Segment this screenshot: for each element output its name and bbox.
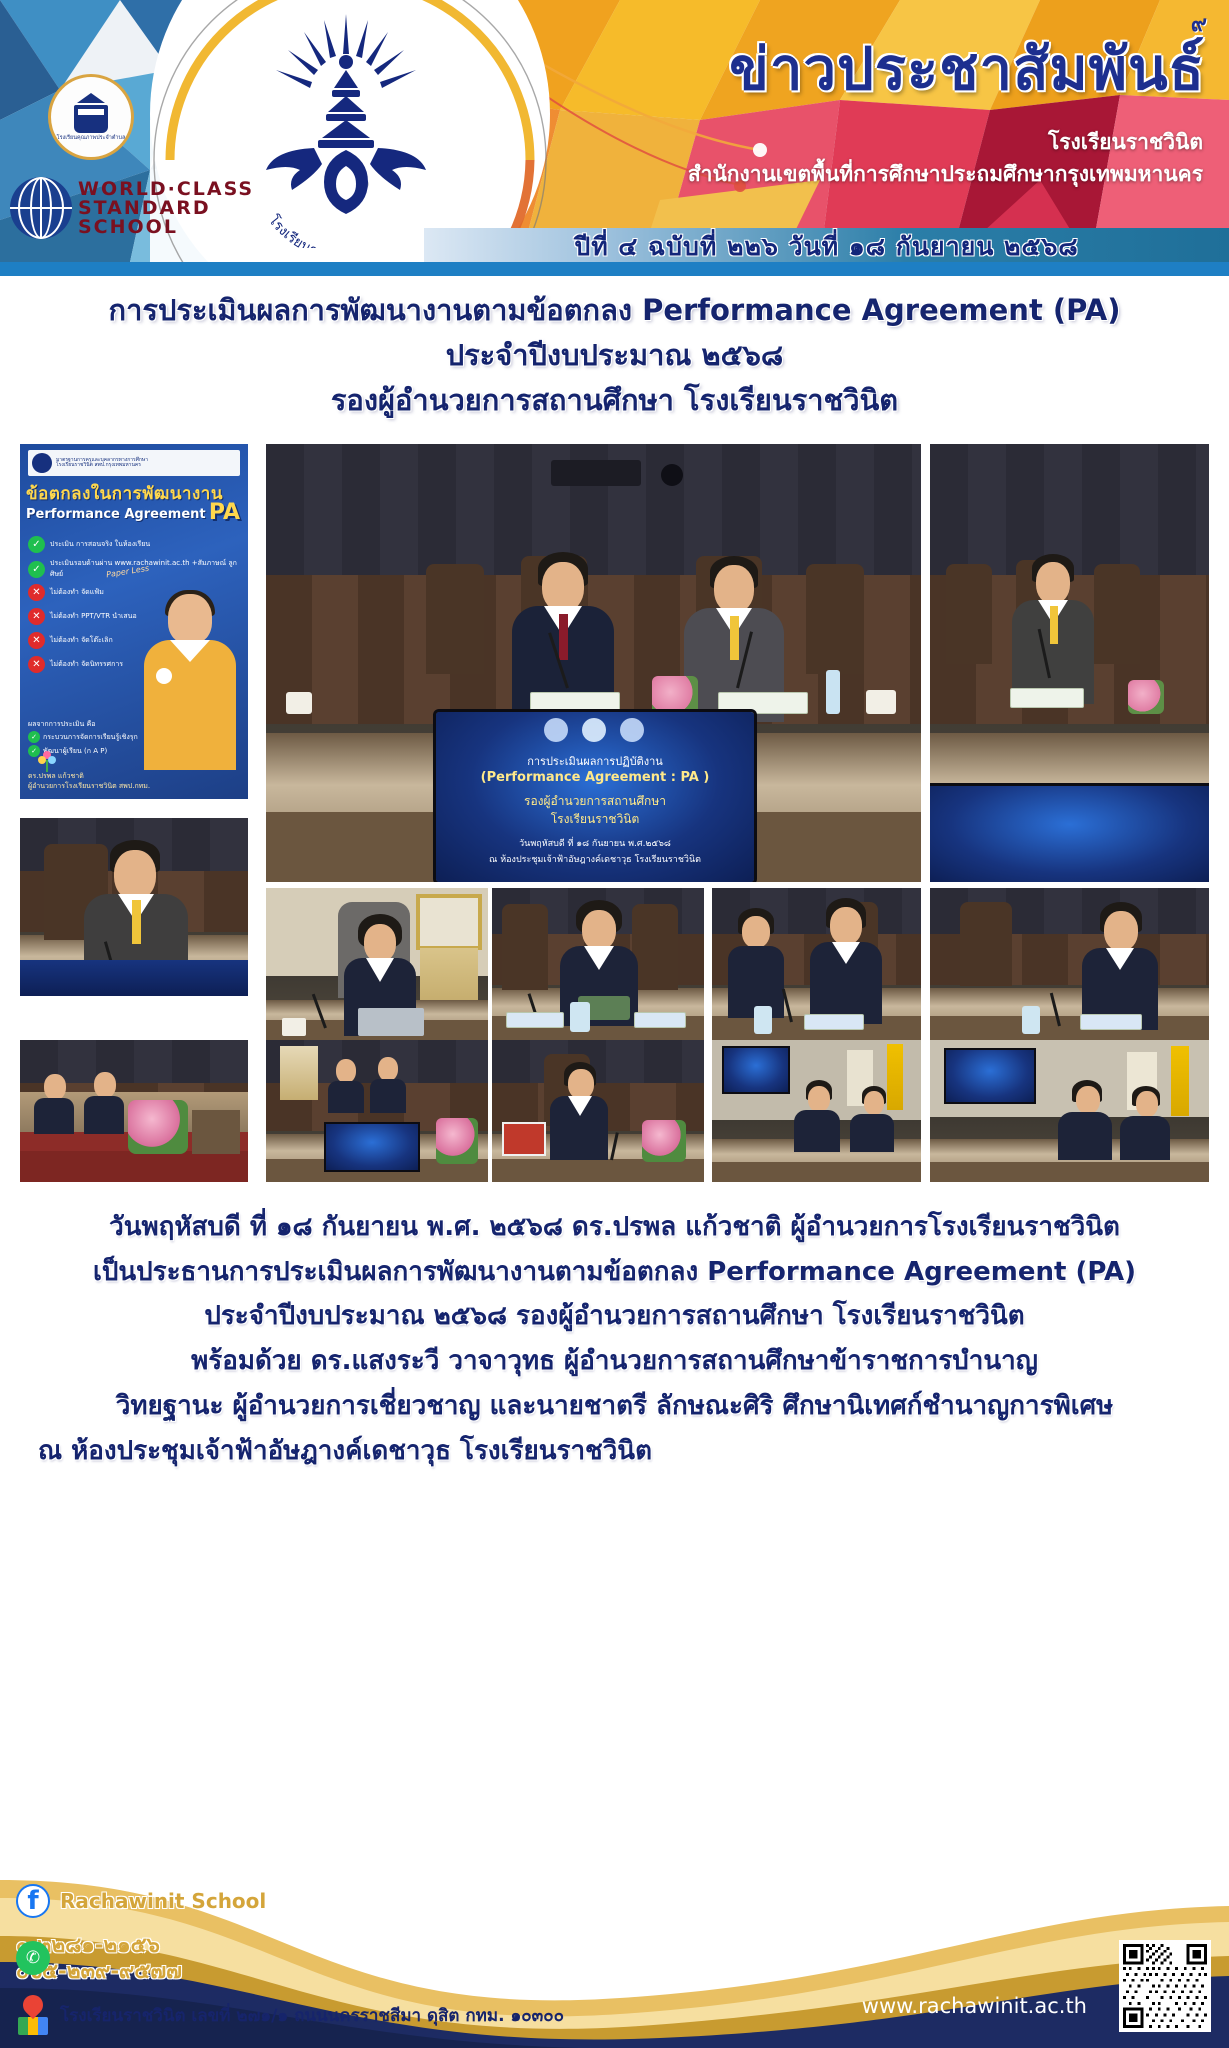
check-icon: ✓: [28, 731, 40, 743]
body-line-3: ประจำปีงบประมาณ ๒๕๖๘ รองผู้อำนวยการสถานศ…: [0, 1294, 1229, 1339]
pa-org-line2: โรงเรียนราชวินิต สพป.กรุงเทพมหานคร: [56, 463, 148, 468]
room-wide-photo-2: [266, 1040, 488, 1182]
pa-item-3: ไม่ต้องทำ PPT/VTR นำเสนอ: [50, 611, 137, 622]
facebook-label[interactable]: Rachawinit School: [60, 1889, 266, 1913]
pa-item-2: ไม่ต้องทำ จัดแฟ้ม: [50, 587, 104, 598]
pa-seal-icon: [32, 453, 52, 473]
body-line-2: เป็นประธานการประเมินผลการพัฒนางานตามข้อต…: [0, 1250, 1229, 1295]
room-wide-photo-3: [492, 1040, 704, 1182]
cross-icon: ✕: [28, 584, 45, 601]
header-banner: โรงเรียนราชวินิต โรงเรียนคุณภาพประจำตำบล…: [0, 0, 1229, 262]
body-paragraph: วันพฤหัสบดี ที่ ๑๘ กันยายน พ.ศ. ๒๕๖๘ ดร.…: [0, 1205, 1229, 1473]
room-wide-photo-5: [930, 1040, 1209, 1182]
issue-line: ปีที่ ๔ ฉบับที่ ๒๒๖ วันที่ ๑๘ กันยายน ๒๕…: [574, 227, 1078, 262]
body-line-6: ณ ห้องประชุมเจ้าฟ้าอัษฎางค์เดชาวุธ โรงเร…: [0, 1429, 1229, 1474]
attendee-photo-1: [712, 888, 921, 1040]
nameplate: [718, 692, 808, 714]
pa-mark: PA: [209, 500, 240, 525]
quality-school-badge-icon: โรงเรียนคุณภาพประจำตำบล: [48, 74, 134, 160]
director-closeup-photo: [20, 818, 248, 996]
pa-footer-item-0: กระบวนการจัดการเรียนรู้เชิงรุก: [43, 732, 138, 743]
attendee-photo-2: [930, 888, 1209, 1040]
facebook-icon[interactable]: f: [16, 1884, 50, 1918]
title-line-3: รองผู้อำนวยการสถานศึกษา โรงเรียนราชวินิต: [0, 378, 1229, 423]
newsletter-poster: โรงเรียนราชวินิต โรงเรียนคุณภาพประจำตำบล…: [0, 0, 1229, 2048]
address-label: โรงเรียนราชวินิต เลขที่ ๒๗๑/๑ ถนนนครราชส…: [60, 2002, 564, 2029]
facebook-contact[interactable]: f Rachawinit School: [16, 1884, 266, 1918]
nameplate: [530, 692, 620, 714]
portrait-illustration: [138, 594, 242, 769]
cross-icon: ✕: [28, 608, 45, 625]
slide-line-1: การประเมินผลการปฏิบัติงาน: [436, 752, 754, 770]
news-title: ข่าวประชาสัมพันธ์: [729, 22, 1205, 115]
pa-item-5: ไม่ต้องทำ จัดนิทรรศการ: [50, 659, 123, 670]
world-class-line1: WORLD·CLASS: [78, 180, 254, 199]
pa-infographic-image: มาตรฐานการครูและบุคลากรทางการศึกษา โรงเร…: [20, 444, 248, 799]
slide-line-4: โรงเรียนราชวินิต: [436, 810, 754, 829]
world-class-school-logo: WORLD·CLASS STANDARD SCHOOL: [10, 160, 190, 256]
globe-icon: [10, 177, 72, 239]
world-class-line2: STANDARD SCHOOL: [78, 199, 254, 237]
check-icon: ✓: [28, 536, 45, 553]
header-divider: [0, 262, 1229, 276]
hall-wide-photo: [930, 444, 1209, 882]
pa-item-0: ประเมิน การสอนจริง ในห้องเรียน: [50, 539, 150, 550]
pa-signature-line1: ดร.ปรพล แก้วชาติ: [28, 771, 150, 781]
room-wide-photo-4: [712, 1040, 921, 1182]
body-line-4: พร้อมด้วย ดร.แสงระวี วาจาวุทธ ผู้อำนวยกา…: [0, 1339, 1229, 1384]
presenter-photo-1: [266, 888, 488, 1040]
office-name: สำนักงานเขตพื้นที่การศึกษาประถมศึกษากรุง…: [688, 158, 1203, 191]
phone-icon: ✆: [16, 1941, 50, 1975]
slide-line-2: (Performance Agreement : PA ): [436, 770, 754, 785]
cross-icon: ✕: [28, 632, 45, 649]
slide-line-6: ณ ห้องประชุมเจ้าฟ้าอัษฎางค์เดชาวุธ โรงเร…: [436, 852, 754, 866]
footer: f Rachawinit School ✆ ๐-๒๒๘๑-๒๑๕๖ ๐๖๕-๒๓…: [0, 1870, 1229, 2048]
map-pin-icon: [16, 1998, 50, 2032]
phone-contact: ✆ ๐-๒๒๘๑-๒๑๕๖ ๐๖๕-๒๓๙-๙๕๗๗: [16, 1932, 182, 1985]
photo-gallery: มาตรฐานการครูและบุคลากรทางการศึกษา โรงเร…: [0, 444, 1229, 1184]
main-meeting-photo: การประเมินผลการปฏิบัติงาน (Performance A…: [266, 444, 921, 882]
website-url[interactable]: www.rachawinit.ac.th: [862, 1994, 1087, 2018]
room-wide-photo-1: [20, 1040, 248, 1182]
presentation-screen: การประเมินผลการปฏิบัติงาน (Performance A…: [436, 712, 754, 882]
cross-icon: ✕: [28, 656, 45, 673]
qr-code-image[interactable]: [1123, 1944, 1207, 2028]
flower-icon: [34, 747, 60, 773]
issue-bar: ปีที่ ๔ ฉบับที่ ๒๒๖ วันที่ ๑๘ กันยายน ๒๕…: [424, 228, 1229, 262]
qr-code[interactable]: [1119, 1940, 1211, 2032]
address-contact: โรงเรียนราชวินิต เลขที่ ๒๗๑/๑ ถนนนครราชส…: [16, 1998, 564, 2032]
quality-badge-label: โรงเรียนคุณภาพประจำตำบล: [57, 135, 126, 141]
pa-footer-title: ผลจากการประเมิน คือ: [28, 719, 138, 730]
slide-line-3: รองผู้อำนวยการสถานศึกษา: [436, 792, 754, 811]
pa-item-4: ไม่ต้องทำ จัดโต๊ะเลิก: [50, 635, 113, 646]
check-icon: ✓: [28, 561, 45, 578]
presenter-photo-2: [492, 888, 704, 1040]
pa-signature-line2: ผู้อำนวยการโรงเรียนราชวินิต สพป.กทม.: [28, 781, 150, 791]
body-line-5: วิทยฐานะ ผู้อำนวยการเชี่ยวชาญ และนายชาตร…: [0, 1384, 1229, 1429]
body-line-1: วันพฤหัสบดี ที่ ๑๘ กันยายน พ.ศ. ๒๕๖๘ ดร.…: [0, 1205, 1229, 1250]
title-line-2: ประจำปีงบประมาณ ๒๕๖๘: [0, 333, 1229, 378]
title-line-1: การประเมินผลการพัฒนางานตามข้อตกลง Perfor…: [0, 288, 1229, 333]
slide-line-5: วันพฤหัสบดี ที่ ๑๘ กันยายน พ.ศ.๒๕๖๘: [436, 836, 754, 850]
school-name: โรงเรียนราชวินิต: [1048, 126, 1203, 159]
pa-signature: ดร.ปรพล แก้วชาติ ผู้อำนวยการโรงเรียนราชว…: [28, 771, 150, 791]
svg-text:โรงเรียนราชวินิต: โรงเรียนราชวินิต: [265, 212, 358, 248]
page-title: การประเมินผลการพัฒนางานตามข้อตกลง Perfor…: [0, 288, 1229, 423]
